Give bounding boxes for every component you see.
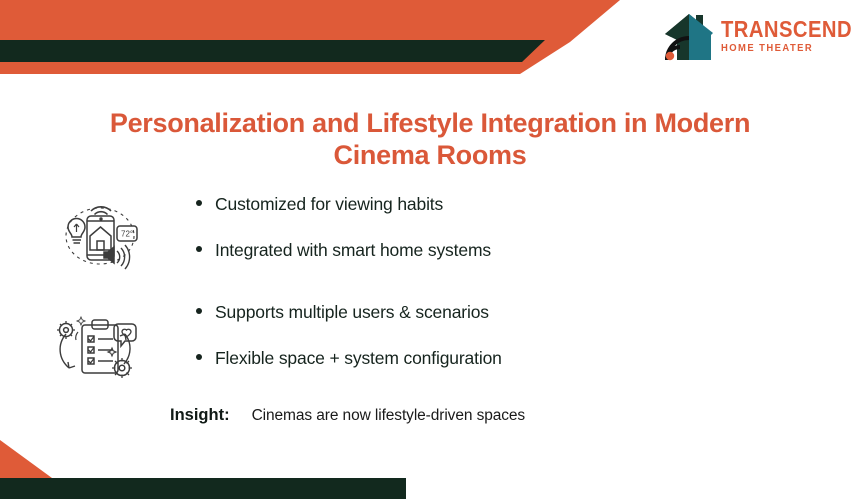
footer-band-green: [0, 478, 406, 499]
bullet-dot-icon: [196, 246, 202, 252]
insight-label: Insight:: [170, 406, 230, 425]
bullet-text: Integrated with smart home systems: [215, 240, 491, 262]
list-item: Integrated with smart home systems: [196, 240, 860, 262]
bullet-group-2: Supports multiple users & scenarios Flex…: [196, 294, 860, 394]
bullet-text: Flexible space + system configuration: [215, 348, 502, 370]
bullet-text: Supports multiple users & scenarios: [215, 302, 489, 324]
bullet-group-1: Customized for viewing habits Integrated…: [196, 186, 860, 286]
page-title: Personalization and Lifestyle Integratio…: [80, 108, 780, 172]
content-block-1: 72° Customized for viewing habits Integr…: [0, 186, 860, 286]
insight-row: Insight: Cinemas are now lifestyle-drive…: [170, 406, 525, 425]
list-item: Flexible space + system configuration: [196, 348, 860, 370]
list-item: Supports multiple users & scenarios: [196, 302, 860, 324]
content-area: 72° Customized for viewing habits Integr…: [0, 186, 860, 402]
checklist-preferences-icon: [0, 294, 196, 394]
footer-triangle-orange: [0, 440, 52, 478]
house-wifi-icon: [663, 10, 715, 62]
header-band-green: [0, 40, 545, 62]
brand-name: TRANSCEND: [721, 18, 852, 41]
brand-logo-text: TRANSCEND HOME THEATER: [721, 18, 860, 54]
content-block-2: Supports multiple users & scenarios Flex…: [0, 294, 860, 394]
smart-home-automation-icon: 72°: [0, 186, 196, 286]
insight-text: Cinemas are now lifestyle-driven spaces: [252, 407, 526, 425]
brand-tagline: HOME THEATER: [721, 43, 813, 54]
bullet-text: Customized for viewing habits: [215, 194, 443, 216]
header-band-orange-top: [0, 0, 620, 42]
svg-text:72°: 72°: [121, 229, 133, 238]
list-item: Customized for viewing habits: [196, 194, 860, 216]
bullet-dot-icon: [196, 308, 202, 314]
bullet-dot-icon: [196, 354, 202, 360]
bullet-dot-icon: [196, 200, 202, 206]
brand-logo: TRANSCEND HOME THEATER: [663, 8, 853, 64]
slide-canvas: TRANSCEND HOME THEATER Personalization a…: [0, 0, 860, 499]
